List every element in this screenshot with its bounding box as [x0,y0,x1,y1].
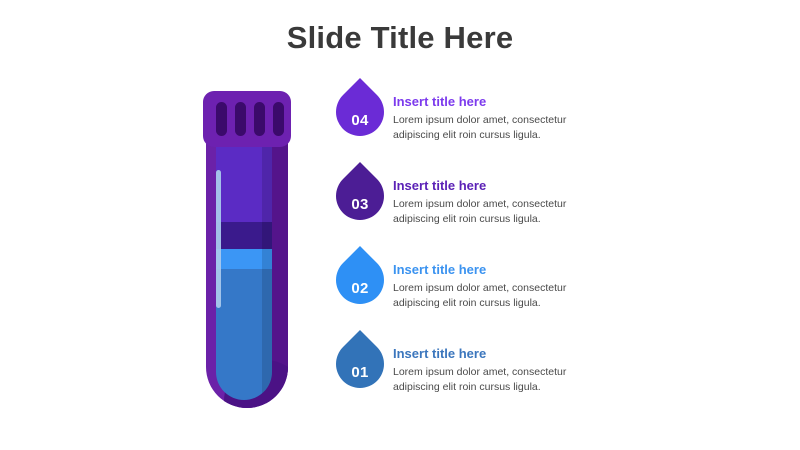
droplet-number-04: 04 [336,96,384,144]
cap-slot-3 [254,102,265,136]
item-text-04: Insert title here Lorem ipsum dolor amet… [393,94,773,143]
item-text-03: Insert title here Lorem ipsum dolor amet… [393,178,773,227]
item-description-04: Lorem ipsum dolor amet, consectetur adip… [393,113,575,143]
cap-slot-2 [235,102,246,136]
test-tube-liquid-column [216,146,272,400]
slide-canvas: Slide Title Here 04 Insert title [0,0,800,450]
list-item[interactable]: 01 Insert title here Lorem ipsum dolor a… [336,340,776,424]
list-item[interactable]: 03 Insert title here Lorem ipsum dolor a… [336,172,776,256]
item-description-02: Lorem ipsum dolor amet, consectetur adip… [393,281,575,311]
item-description-01: Lorem ipsum dolor amet, consectetur adip… [393,365,575,395]
test-tube-highlight [216,170,221,308]
item-description-03: Lorem ipsum dolor amet, consectetur adip… [393,197,575,227]
item-title-04: Insert title here [393,94,773,110]
droplet-number-02: 02 [336,264,384,312]
item-title-03: Insert title here [393,178,773,194]
items-list: 04 Insert title here Lorem ipsum dolor a… [336,88,776,424]
list-item[interactable]: 02 Insert title here Lorem ipsum dolor a… [336,256,776,340]
liquid-right-shade [262,146,272,400]
item-title-02: Insert title here [393,262,773,278]
list-item[interactable]: 04 Insert title here Lorem ipsum dolor a… [336,88,776,172]
test-tube-cap-icon [203,91,291,147]
droplet-number-01: 01 [336,348,384,396]
item-text-01: Insert title here Lorem ipsum dolor amet… [393,346,773,395]
page-title: Slide Title Here [0,20,800,56]
cap-slot-4 [273,102,284,136]
item-title-01: Insert title here [393,346,773,362]
test-tube-illustration [200,88,295,408]
droplet-number-03: 03 [336,180,384,228]
item-text-02: Insert title here Lorem ipsum dolor amet… [393,262,773,311]
cap-slot-1 [216,102,227,136]
